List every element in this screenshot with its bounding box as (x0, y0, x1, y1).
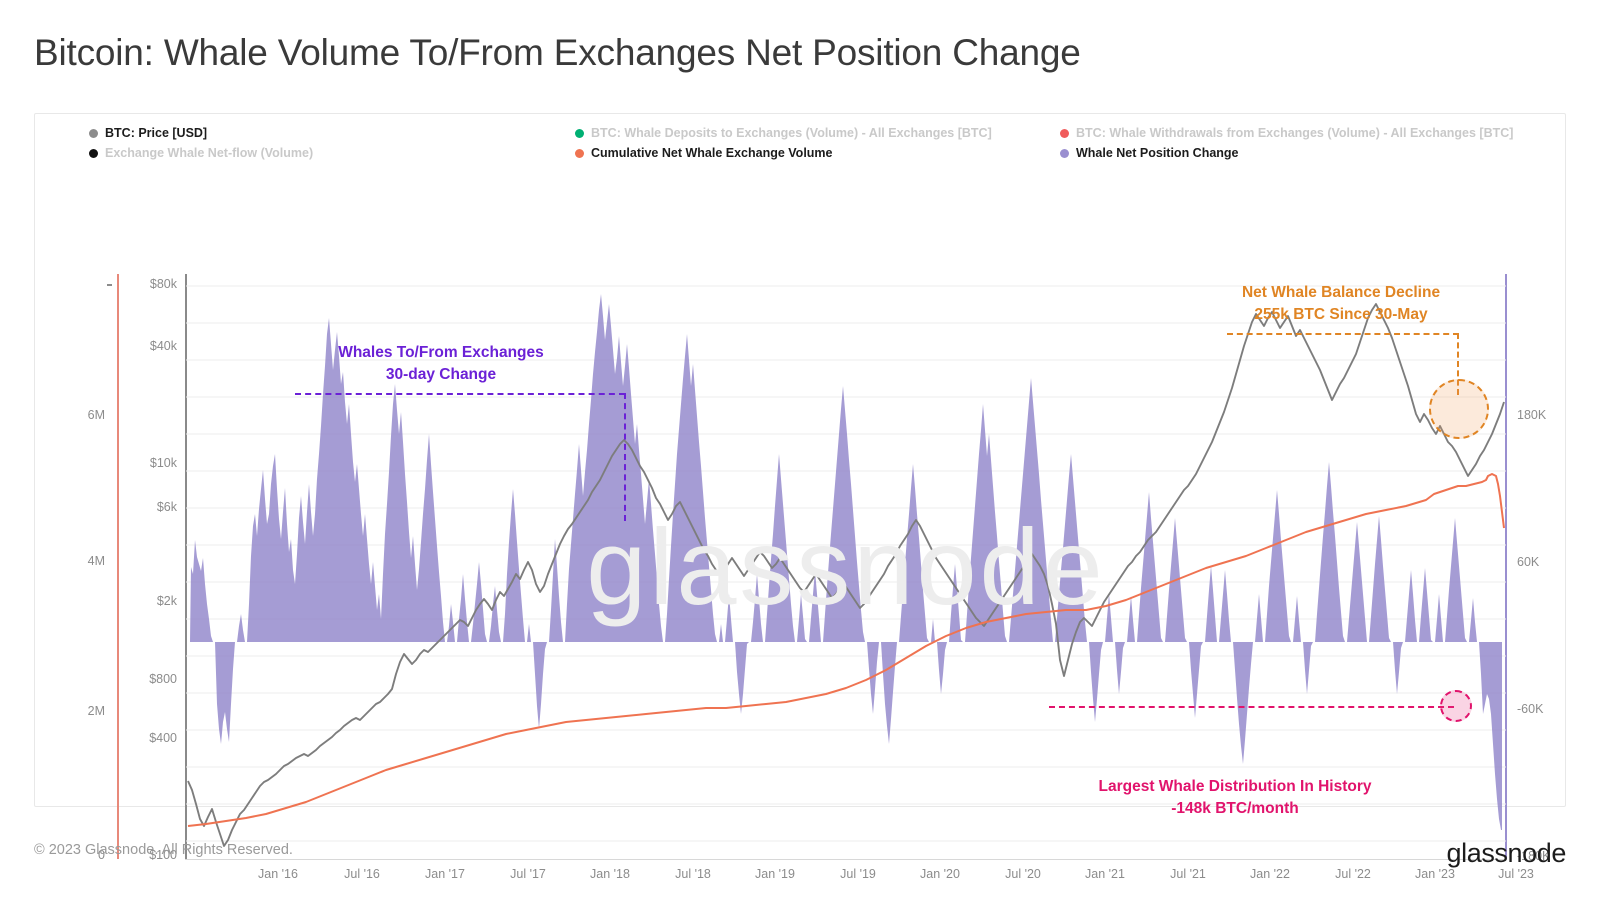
annotation-largest-whale-distribution: Largest Whale Distribution In History -1… (1035, 776, 1435, 821)
annotation-whales-30day-change: Whales To/From Exchanges 30-day Change (291, 342, 591, 387)
ytick-netpos-180k: 180K (1517, 408, 1546, 422)
ytick-price-6k: $6k (103, 500, 177, 514)
axis-line-volume-left (117, 274, 119, 859)
ytick-price-400: $400 (103, 731, 177, 745)
annotation-net-whale-balance-decline: Net Whale Balance Decline 255k BTC Since… (1191, 282, 1491, 327)
xtick-jan-18: Jan '18 (565, 867, 655, 881)
xtick-jul-22: Jul '22 (1308, 867, 1398, 881)
annotation-line-1: Largest Whale Distribution In History (1035, 776, 1435, 798)
legend-item-whale-withdrawals[interactable]: BTC: Whale Withdrawals from Exchanges (V… (1060, 123, 1513, 143)
annotation-whales-dash-vertical (624, 393, 626, 521)
page-title: Bitcoin: Whale Volume To/From Exchanges … (34, 32, 1081, 74)
annotation-line-2: 30-day Change (291, 364, 591, 386)
xtick-jul-21: Jul '21 (1143, 867, 1233, 881)
legend-dot-icon (1060, 149, 1069, 158)
legend-item-cumulative-net-whale-volume[interactable]: Cumulative Net Whale Exchange Volume (575, 143, 992, 163)
legend-item-whale-deposits[interactable]: BTC: Whale Deposits to Exchanges (Volume… (575, 123, 992, 143)
axis-line-x-bottom (185, 859, 1507, 860)
xtick-jul-23: Jul '23 (1471, 867, 1561, 881)
ytick-price-40k: $40k (103, 339, 177, 353)
xtick-jan-21: Jan '21 (1060, 867, 1150, 881)
chart-card: BTC: Price [USD] Exchange Whale Net-flow… (34, 113, 1566, 807)
annotation-line-1: Net Whale Balance Decline (1191, 282, 1491, 304)
legend-item-whale-net-position-change[interactable]: Whale Net Position Change (1060, 143, 1513, 163)
annotation-distribution-highlight-circle (1440, 690, 1472, 722)
ytick-volume-2m: 2M (35, 704, 105, 718)
legend-dot-icon (575, 149, 584, 158)
ytick-netpos-60k: 60K (1517, 555, 1539, 569)
legend-item-label: Exchange Whale Net-flow (Volume) (105, 146, 313, 160)
annotation-decline-dash-horizontal (1227, 333, 1459, 335)
legend-dot-icon (89, 129, 98, 138)
xtick-jul-19: Jul '19 (813, 867, 903, 881)
legend-item-label: BTC: Whale Withdrawals from Exchanges (V… (1076, 126, 1513, 140)
xtick-jul-20: Jul '20 (978, 867, 1068, 881)
legend-column-1: BTC: Price [USD] Exchange Whale Net-flow… (89, 123, 313, 163)
legend-item-label: BTC: Price [USD] (105, 126, 207, 140)
xtick-jul-16: Jul '16 (317, 867, 407, 881)
xtick-jan-20: Jan '20 (895, 867, 985, 881)
ytick-volume-4m: 4M (35, 554, 105, 568)
ytick-netpos-neg60k: -60K (1517, 702, 1543, 716)
xtick-jan-19: Jan '19 (730, 867, 820, 881)
chart-page: Bitcoin: Whale Volume To/From Exchanges … (0, 0, 1600, 921)
footer-copyright: © 2023 Glassnode. All Rights Reserved. (34, 842, 293, 858)
xtick-jan-22: Jan '22 (1225, 867, 1315, 881)
legend-dot-icon (89, 149, 98, 158)
annotation-distribution-dash-horizontal (1049, 706, 1454, 708)
ytick-price-2k: $2k (103, 594, 177, 608)
ytick-price-800: $800 (103, 672, 177, 686)
legend-dot-icon (575, 129, 584, 138)
legend-item-btc-price[interactable]: BTC: Price [USD] (89, 123, 313, 143)
legend-dot-icon (1060, 129, 1069, 138)
glassnode-logo: glassnode (1447, 838, 1567, 869)
ytick-price-10k: $10k (103, 456, 177, 470)
legend-item-label: BTC: Whale Deposits to Exchanges (Volume… (591, 126, 992, 140)
annotation-whales-dash-horizontal (295, 393, 625, 395)
annotation-decline-highlight-circle (1429, 379, 1489, 439)
legend-item-exchange-whale-netflow[interactable]: Exchange Whale Net-flow (Volume) (89, 143, 313, 163)
annotation-line-2: 255k BTC Since 30-May (1191, 304, 1491, 326)
legend-column-2: BTC: Whale Deposits to Exchanges (Volume… (575, 123, 992, 163)
annotation-line-2: -148k BTC/month (1035, 798, 1435, 820)
chart-legend: BTC: Price [USD] Exchange Whale Net-flow… (35, 123, 1565, 163)
xtick-jul-17: Jul '17 (483, 867, 573, 881)
legend-item-label: Whale Net Position Change (1076, 146, 1239, 160)
ytick-volume-6m: 6M (35, 408, 105, 422)
annotation-line-1: Whales To/From Exchanges (291, 342, 591, 364)
xtick-jul-18: Jul '18 (648, 867, 738, 881)
ytick-price-80k: $80k (103, 277, 177, 291)
xtick-jan-23: Jan '23 (1390, 867, 1480, 881)
xtick-jan-16: Jan '16 (233, 867, 323, 881)
xtick-jan-17: Jan '17 (400, 867, 490, 881)
legend-column-3: BTC: Whale Withdrawals from Exchanges (V… (1060, 123, 1513, 163)
legend-item-label: Cumulative Net Whale Exchange Volume (591, 146, 833, 160)
